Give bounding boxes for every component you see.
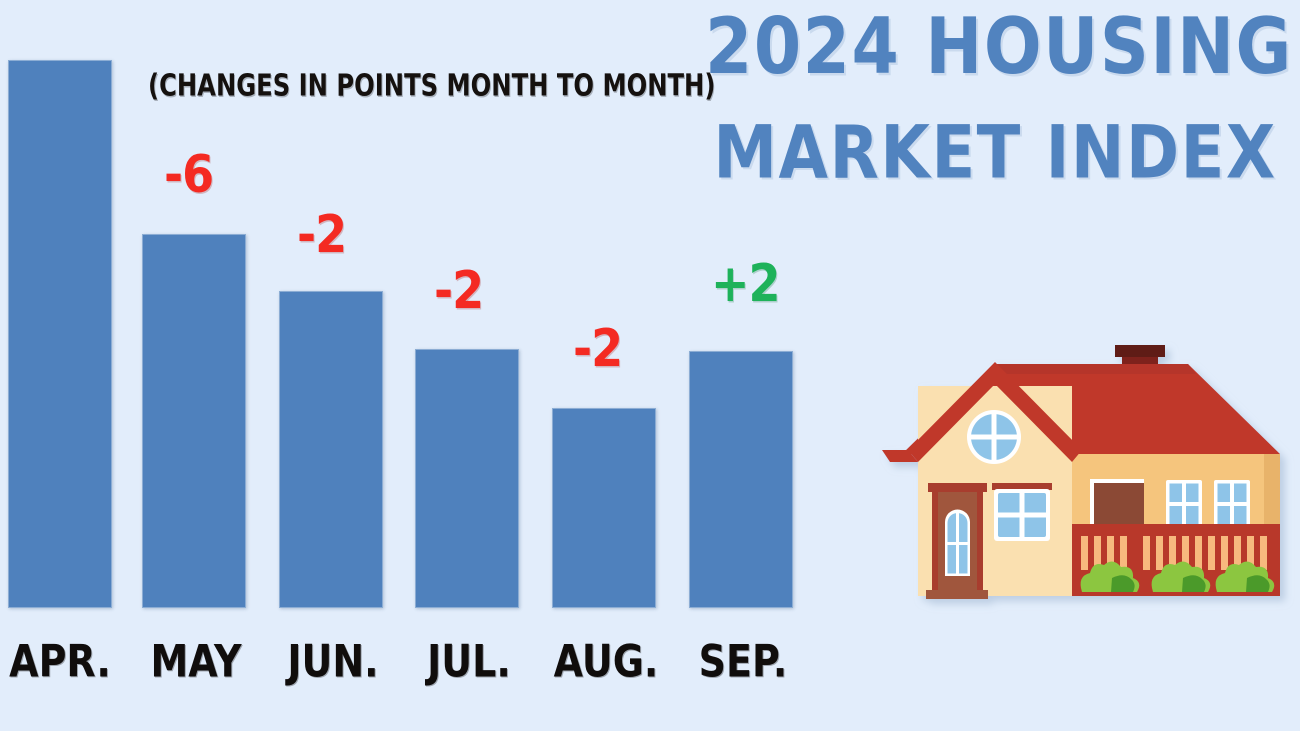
door-step [926,590,988,599]
delta-label-may: -6 [164,144,213,204]
delta-label-aug: -2 [573,318,622,378]
bar-jul [415,349,519,608]
wing-window-1-mullion-horizontal [1166,502,1202,506]
door-window-mullion-horizontal [947,542,968,545]
front-window-header [992,483,1052,490]
delta-label-jun: -2 [297,204,346,264]
porch-top-rail [1072,524,1280,536]
bar-may [142,234,246,608]
delta-label-jul: -2 [434,260,483,320]
bar-jun [279,291,383,608]
house-body-group [882,345,1280,599]
bar-apr [8,60,112,608]
bar-chart: -6 -2 -2 -2 +2 APR. MAY JUN. JUL. AUG. S… [0,0,850,731]
front-window-mullion-horizontal [994,513,1050,518]
axis-label-jul: JUL. [409,635,529,687]
bar-sep [689,351,793,608]
delta-label-sep: +2 [711,253,780,313]
axis-label-sep: SEP. [683,635,803,687]
wing-window-2-mullion-horizontal [1214,502,1250,506]
bar-aug [552,408,656,608]
axis-label-may: MAY [136,635,256,687]
round-window-mullion-horizontal [971,435,1017,440]
chimney-cap [1115,345,1165,357]
axis-label-apr: APR. [0,635,120,687]
axis-label-jun: JUN. [273,635,393,687]
door-header [928,483,987,492]
roof-ridge-shade [988,364,1196,374]
axis-label-aug: AUG. [546,635,666,687]
housing-market-index-infographic: 2024 HOUSING MARKET INDEX (CHANGES IN PO… [0,0,1300,731]
wing-doorway [1094,483,1144,528]
house-illustration [876,326,1296,626]
